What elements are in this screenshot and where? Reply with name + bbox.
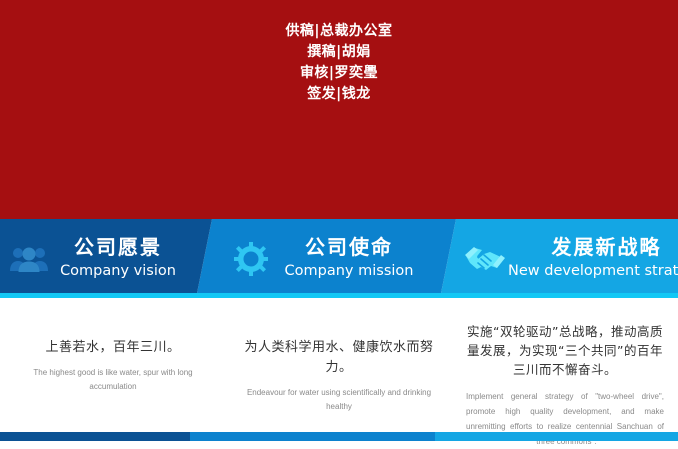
gear-icon <box>230 242 272 276</box>
credit-line-contributor: 供稿|总裁办公室 <box>285 21 392 42</box>
content-en-vision: The highest good is like water, spur wit… <box>18 366 208 394</box>
content-column-mission: 为人类科学用水、健康饮水而努力。 Endeavour for water usi… <box>226 298 452 432</box>
banner-underline <box>0 293 678 298</box>
content-column-vision: 上善若水，百年三川。 The highest good is like wate… <box>0 298 226 432</box>
bottom-bar-segment-dark <box>0 432 190 441</box>
content-columns: 上善若水，百年三川。 The highest good is like wate… <box>0 298 678 432</box>
banner-panel-strategy[interactable]: 发展新战略 New development strategy <box>440 219 678 298</box>
credit-line-reviewer: 审核|罗奕璺 <box>300 63 378 84</box>
content-cn-vision: 上善若水，百年三川。 <box>45 338 180 358</box>
banner-title-cn-strategy: 发展新战略 <box>551 235 661 260</box>
content-en-mission: Endeavour for water using scientifically… <box>238 386 440 414</box>
content-cn-mission: 为人类科学用水、健康饮水而努力。 <box>238 338 440 378</box>
handshake-icon <box>462 243 508 275</box>
section-banner: 发展新战略 New development strategy <box>0 219 678 298</box>
content-column-strategy: 实施“双轮驱动”总战略，推动高质量发展，为实现“三个共同”的百年三川而不懈奋斗。… <box>452 298 678 432</box>
banner-panel-vision[interactable]: 公司愿景 Company vision <box>0 219 212 298</box>
banner-title-en-mission: Company mission <box>285 260 414 282</box>
banner-title-en-strategy: New development strategy <box>508 260 678 282</box>
banner-title-cn-mission: 公司使命 <box>305 235 393 260</box>
banner-title-cn-vision: 公司愿景 <box>74 235 162 260</box>
page-root: 供稿|总裁办公室 撰稿|胡娟 审核|罗奕璺 签发|钱龙 发展新战略 New de… <box>0 0 678 441</box>
content-cn-strategy: 实施“双轮驱动”总战略，推动高质量发展，为实现“三个共同”的百年三川而不懈奋斗。 <box>466 322 664 379</box>
banner-panel-mission[interactable]: 公司使命 Company mission <box>196 219 456 298</box>
credit-line-author: 撰稿|胡娟 <box>307 42 371 63</box>
credits-block: 供稿|总裁办公室 撰稿|胡娟 审核|罗奕璺 签发|钱龙 <box>0 0 678 219</box>
bottom-bar-segment-mid <box>190 432 435 441</box>
bottom-bar-segment-light <box>435 432 678 441</box>
credit-line-issuer: 签发|钱龙 <box>307 84 371 105</box>
group-people-icon <box>8 245 50 273</box>
banner-title-en-vision: Company vision <box>60 260 176 282</box>
bottom-color-bar <box>0 432 678 441</box>
